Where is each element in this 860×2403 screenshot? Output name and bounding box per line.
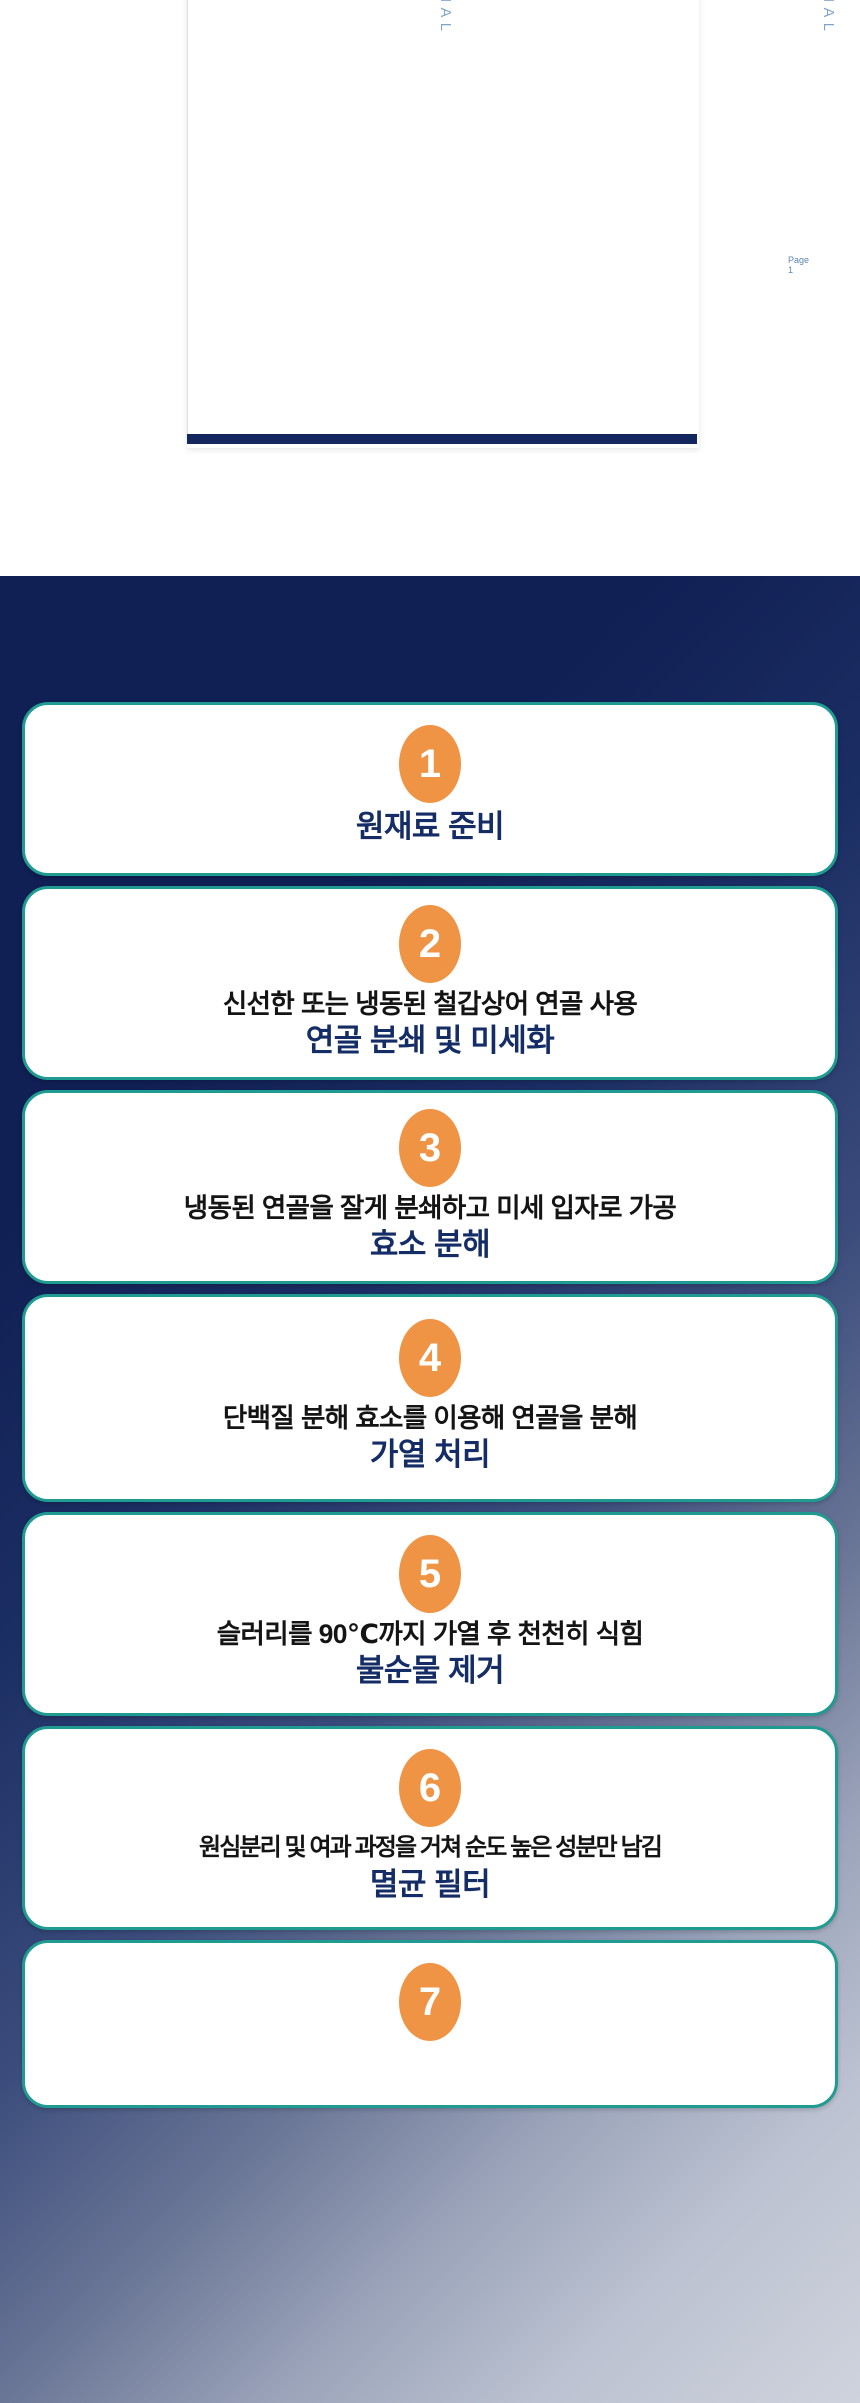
page-bottom-bar — [187, 434, 697, 444]
step-card-7[interactable]: 7 — [22, 1940, 838, 2108]
step-card-6[interactable]: 6 원심분리 및 여과 과정을 거쳐 순도 높은 성분만 남김 멸균 필터 — [22, 1726, 838, 1930]
step-description: 냉동된 연골을 잘게 분쇄하고 미세 입자로 가공 — [39, 1191, 821, 1225]
step-number-badge: 4 — [399, 1319, 461, 1397]
step-card-2[interactable]: 2 신선한 또는 냉동된 철갑상어 연골 사용 연골 분쇄 및 미세화 — [22, 886, 838, 1080]
step-title: 연골 분쇄 및 미세화 — [39, 1021, 821, 1061]
step-description: 단백질 분해 효소를 이용해 연골을 분해 — [39, 1401, 821, 1435]
step-card-5[interactable]: 5 슬러리를 90℃까지 가열 후 천천히 식힘 불순물 제거 — [22, 1512, 838, 1716]
step-number-badge: 6 — [399, 1749, 461, 1827]
step-description: 신선한 또는 냉동된 철갑상어 연골 사용 — [39, 987, 821, 1021]
step-number-badge: 3 — [399, 1109, 461, 1187]
step-card-3[interactable]: 3 냉동된 연골을 잘게 분쇄하고 미세 입자로 가공 효소 분해 — [22, 1090, 838, 1284]
step-title: 멸균 필터 — [39, 1865, 821, 1905]
step-card-1[interactable]: 1 원재료 준비 — [22, 702, 838, 876]
document-scan-region: BIOFAC CONFIDENTIAL CONFIDENTIAL Heating… — [0, 0, 860, 576]
step-title: 원재료 준비 — [39, 807, 821, 847]
step-title: 가열 처리 — [39, 1435, 821, 1475]
confidential-stamp-left: CONFIDENTIAL — [437, 0, 453, 36]
step-number-badge: 2 — [399, 905, 461, 983]
document-page: BIOFAC CONFIDENTIAL CONFIDENTIAL Heating… — [187, 0, 697, 440]
step-number-badge: 7 — [399, 1963, 461, 2041]
step-title: 효소 분해 — [39, 1225, 821, 1265]
step-card-list: 1 원재료 준비 2 신선한 또는 냉동된 철갑상어 연골 사용 연골 분쇄 및… — [0, 576, 860, 2118]
step-description: 원심분리 및 여과 과정을 거쳐 순도 높은 성분만 남김 — [39, 1831, 821, 1865]
confidential-stamp-right: CONFIDENTIAL — [820, 0, 836, 36]
step-card-deck: 1 원재료 준비 2 신선한 또는 냉동된 철갑상어 연골 사용 연골 분쇄 및… — [0, 576, 860, 2403]
step-number-badge: 5 — [399, 1535, 461, 1613]
step-description: 슬러리를 90℃까지 가열 후 천천히 식힘 — [39, 1617, 821, 1651]
step-number-badge: 1 — [399, 725, 461, 803]
step-title: 불순물 제거 — [39, 1651, 821, 1691]
page-number: Page 1 — [788, 255, 809, 275]
step-card-4[interactable]: 4 단백질 분해 효소를 이용해 연골을 분해 가열 처리 — [22, 1294, 838, 1502]
